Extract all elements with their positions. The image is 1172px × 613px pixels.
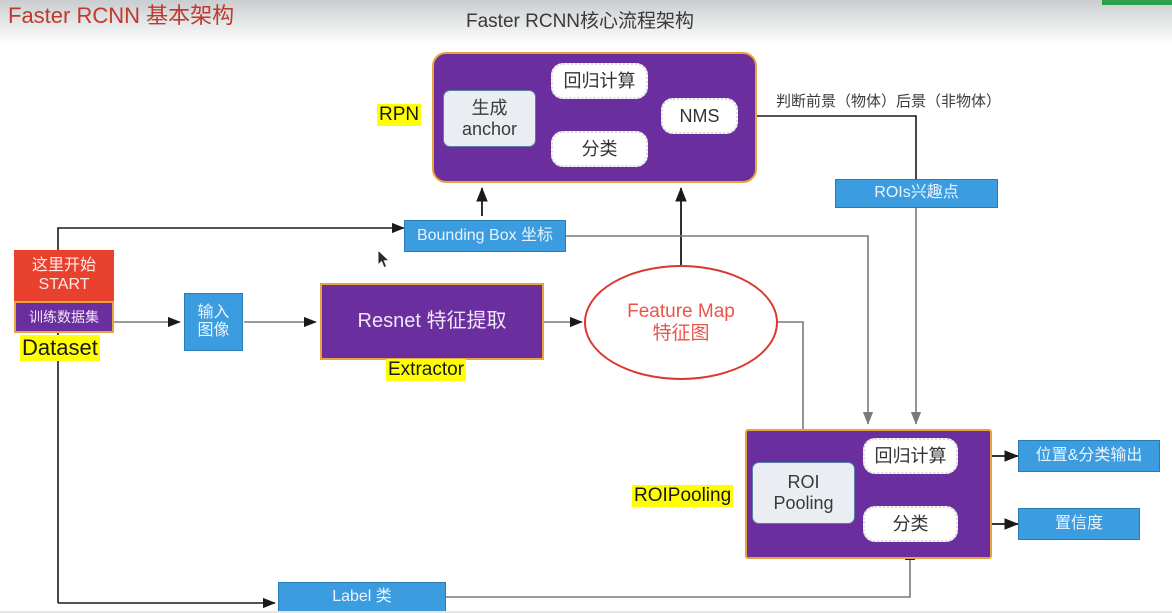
feature-map-label-en: Feature Map [627,301,735,323]
start-node[interactable]: 这里开始 START [14,250,114,301]
dataset-node[interactable]: 训练数据集 [14,301,114,333]
dataset-label-cn: 训练数据集 [29,309,99,325]
input-image-label-line2: 图像 [197,322,229,340]
foreground-background-annotation: 判断前景（物体）后景（非物体） [776,90,1001,111]
rpn-regression-label: 回归计算 [564,71,636,92]
roi-pooling-label-line2: Pooling [773,493,833,514]
output-position-class-node[interactable]: 位置&分类输出 [1018,440,1160,472]
start-label-en: START [39,276,90,294]
generate-anchor-node[interactable]: 生成 anchor [443,90,536,147]
rois-label: ROIs兴趣点 [874,184,958,202]
label-class-node[interactable]: Label 类 [278,582,446,613]
roi-pooling-label-line1: ROI [787,472,819,493]
head-classification-label: 分类 [893,514,929,535]
head-classification-node[interactable]: 分类 [863,506,958,542]
resnet-extractor-node[interactable]: Resnet 特征提取 [320,283,544,360]
rois-node[interactable]: ROIs兴趣点 [835,179,998,208]
feature-map-node[interactable]: Feature Map 特征图 [584,265,778,380]
feature-map-label-cn: 特征图 [652,323,709,345]
nms-node[interactable]: NMS [661,98,738,134]
generate-anchor-label-en: anchor [462,119,517,140]
head-regression-label: 回归计算 [875,446,947,467]
resnet-label: Resnet 特征提取 [358,310,507,333]
bounding-box-node[interactable]: Bounding Box 坐标 [404,220,566,252]
extractor-caption: Extractor [386,359,466,381]
roi-pooling-node[interactable]: ROI Pooling [752,462,855,524]
roipooling-caption: ROIPooling [632,485,733,507]
input-image-node[interactable]: 输入 图像 [184,293,243,351]
dataset-caption: Dataset [20,335,100,361]
output-confidence-label: 置信度 [1055,515,1103,533]
input-image-label-line1: 输入 [197,304,229,322]
start-label-cn: 这里开始 [32,257,96,275]
rpn-classification-node[interactable]: 分类 [551,131,648,167]
bounding-box-label: Bounding Box 坐标 [417,227,553,245]
rpn-classification-label: 分类 [582,139,618,160]
nms-label: NMS [680,106,720,127]
output-position-class-label: 位置&分类输出 [1036,447,1143,465]
output-confidence-node[interactable]: 置信度 [1018,508,1140,540]
rpn-caption: RPN [377,104,421,126]
head-regression-node[interactable]: 回归计算 [863,438,958,474]
mouse-cursor [377,249,391,269]
label-class-label: Label 类 [332,588,392,606]
diagram-canvas: Faster RCNN 基本架构 Faster RCNN核心流程架构 [0,0,1172,613]
rpn-regression-node[interactable]: 回归计算 [551,63,648,99]
generate-anchor-label-cn: 生成 [472,98,508,119]
